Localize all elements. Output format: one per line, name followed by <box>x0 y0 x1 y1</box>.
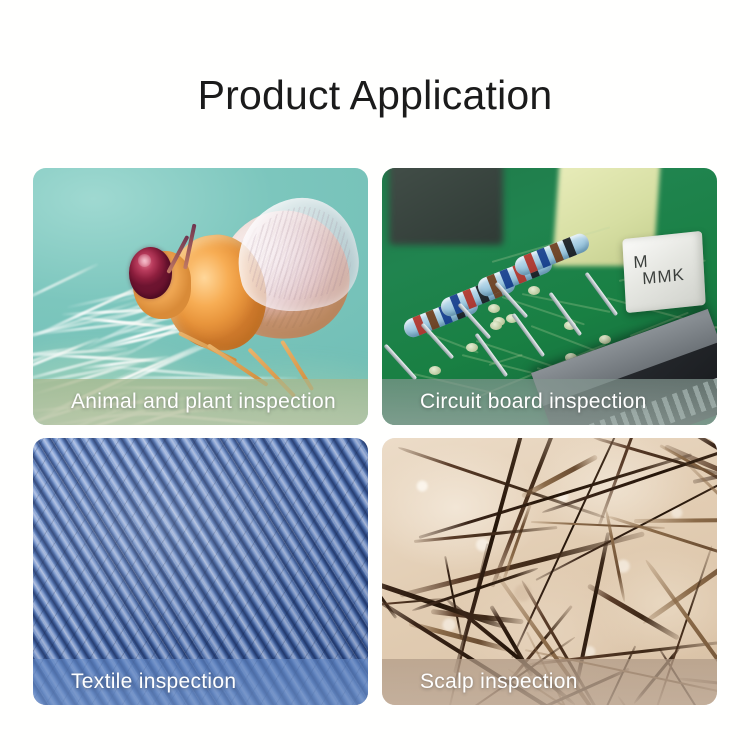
application-card-grid: Animal and plant inspection M MMK <box>33 168 717 705</box>
caption-label: Animal and plant inspection <box>71 390 336 414</box>
card-animal-plant[interactable]: Animal and plant inspection <box>33 168 368 425</box>
fly-eye <box>129 247 173 299</box>
resistor-lead <box>384 343 418 380</box>
resistor-lead <box>548 292 582 336</box>
resistor-band <box>549 242 564 263</box>
resistor <box>512 231 591 278</box>
card-scalp[interactable]: Scalp inspection <box>382 438 717 705</box>
hair-strand <box>587 584 680 641</box>
fly-subject <box>154 199 362 399</box>
product-application-page: Product Application <box>0 0 750 750</box>
hair-strand <box>634 517 717 523</box>
caption-label: Circuit board inspection <box>420 390 647 414</box>
resistor-lead <box>511 313 545 357</box>
caption-label: Scalp inspection <box>420 670 578 694</box>
caption-label: Textile inspection <box>71 670 236 694</box>
hair-strand <box>604 510 626 603</box>
resistor-lead <box>585 272 619 316</box>
resistor-band <box>562 237 577 258</box>
resistor-lead <box>474 333 508 377</box>
resistor-band <box>523 253 538 274</box>
card-caption-circuit-board: Circuit board inspection <box>382 379 717 425</box>
resistor-lead <box>421 323 455 360</box>
card-textile[interactable]: Textile inspection <box>33 438 368 705</box>
card-circuit-board[interactable]: M MMK Circuit board inspection <box>382 168 717 425</box>
card-caption-animal-plant: Animal and plant inspection <box>33 379 368 425</box>
card-caption-textile: Textile inspection <box>33 659 368 705</box>
resistor-band <box>536 248 551 269</box>
card-caption-scalp: Scalp inspection <box>382 659 717 705</box>
film-capacitor: M MMK <box>622 231 705 313</box>
hair-strand <box>414 526 558 543</box>
page-title: Product Application <box>0 73 750 118</box>
